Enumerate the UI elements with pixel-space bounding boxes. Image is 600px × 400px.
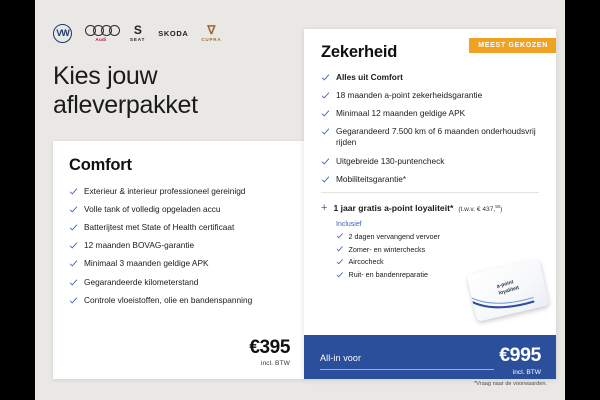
check-icon	[69, 296, 78, 305]
brand-logo-strip: VW Audi S SEAT SKODA ∇ CUPRA	[53, 22, 221, 44]
list-item-label: Alles uit Comfort	[336, 72, 403, 83]
list-item: Alles uit Comfort	[321, 72, 540, 83]
list-item: Controle vloeistoffen, olie en bandenspa…	[69, 295, 291, 306]
check-icon	[321, 73, 330, 82]
check-icon	[321, 175, 330, 184]
loyalty-value-prefix: (t.w.v. € 437,	[458, 206, 495, 213]
list-item: Exterieur & interieur professioneel gere…	[69, 186, 291, 197]
list-item-label: Controle vloeistoffen, olie en bandenspa…	[84, 295, 252, 306]
zekerheid-package-card[interactable]: MEEST GEKOZEN Zekerheid Alles uit Comfor…	[304, 29, 556, 379]
list-item-label: Volle tank of volledig opgeladen accu	[84, 204, 221, 215]
comfort-package-card[interactable]: Comfort Exterieur & interieur profession…	[53, 141, 305, 379]
list-item-label: Exterieur & interieur professioneel gere…	[84, 186, 245, 197]
list-item: Zomer- en winterchecks	[336, 245, 539, 254]
check-icon	[321, 91, 330, 100]
zekerheid-price: €995	[499, 346, 541, 366]
vw-roundel-icon: VW	[53, 24, 72, 43]
seat-glyph-icon: S	[134, 24, 142, 36]
includes-label: Inclusief	[336, 221, 539, 228]
comfort-price: €395	[249, 338, 290, 357]
loyalty-value-suffix: )	[500, 206, 502, 213]
list-item: Mobiliteitsgarantie*	[321, 174, 540, 185]
list-item: Uitgebreide 130-puntencheck	[321, 156, 540, 167]
check-icon	[336, 232, 344, 240]
list-item-label: Minimaal 3 maanden geldige APK	[84, 258, 209, 269]
comfort-price-note: incl. BTW	[249, 360, 290, 367]
comfort-feature-list: Exterieur & interieur professioneel gere…	[69, 186, 291, 306]
check-icon	[321, 127, 330, 136]
list-item: Gegarandeerd 7.500 km of 6 maanden onder…	[321, 126, 540, 148]
zekerheid-feature-list: Alles uit Comfort 18 maanden a-point zek…	[321, 72, 540, 185]
seat-logo-icon: S SEAT	[130, 24, 145, 42]
list-item-label: Mobiliteitsgarantie*	[336, 174, 406, 185]
plus-icon: +	[321, 203, 327, 214]
status-badge: MEEST GEKOZEN	[469, 38, 556, 53]
list-item: 18 maanden a-point zekerheidsgarantie	[321, 90, 540, 101]
list-item: 2 dagen vervangend vervoer	[336, 232, 539, 241]
list-item-label: 12 maanden BOVAG-garantie	[84, 240, 194, 251]
list-item-label: Gegarandeerd 7.500 km of 6 maanden onder…	[336, 126, 540, 148]
check-icon	[69, 278, 78, 287]
check-icon	[336, 271, 344, 279]
seat-wordmark: SEAT	[130, 37, 145, 42]
check-icon	[321, 157, 330, 166]
list-item-label: Gegarandeerde kilometerstand	[84, 277, 198, 288]
loyalty-title: 1 jaar gratis a-point loyaliteit*	[333, 203, 453, 213]
list-item: Gegarandeerde kilometerstand	[69, 277, 291, 288]
loyalty-header: + 1 jaar gratis a-point loyaliteit* (t.w…	[321, 203, 539, 214]
allin-label: All-in voor	[320, 346, 361, 363]
skoda-logo-icon: SKODA	[158, 29, 188, 38]
cupra-glyph-icon: ∇	[207, 24, 215, 36]
cupra-logo-icon: ∇ CUPRA	[201, 24, 221, 42]
comfort-card-title: Comfort	[69, 156, 305, 175]
list-item: Volle tank of volledig opgeladen accu	[69, 204, 291, 215]
divider	[321, 192, 539, 193]
allin-row: All-in voor €995 incl. BTW	[320, 346, 541, 376]
check-icon	[69, 205, 78, 214]
volkswagen-logo-icon: VW	[53, 24, 72, 43]
check-icon	[69, 187, 78, 196]
allin-price-bar: All-in voor €995 incl. BTW	[304, 335, 556, 379]
list-item-label: Zomer- en winterchecks	[349, 245, 426, 254]
cupra-wordmark: CUPRA	[201, 37, 221, 42]
list-item: 12 maanden BOVAG-garantie	[69, 240, 291, 251]
list-item-label: Minimaal 12 maanden geldige APK	[336, 108, 465, 119]
list-item-label: Uitgebreide 130-puntencheck	[336, 156, 444, 167]
audi-logo-icon: Audi	[85, 25, 117, 42]
screenshot-stage: VW Audi S SEAT SKODA ∇ CUPRA Kies jouw a…	[0, 0, 600, 400]
check-icon	[321, 109, 330, 118]
check-icon	[336, 245, 344, 253]
skoda-wordmark: SKODA	[158, 29, 188, 38]
footnote: *Vraag naar de voorwaarden.	[474, 381, 547, 387]
list-item: Minimaal 12 maanden geldige APK	[321, 108, 540, 119]
check-icon	[69, 259, 78, 268]
page-title: Kies jouw afleverpakket	[53, 62, 303, 120]
loyalty-section: + 1 jaar gratis a-point loyaliteit* (t.w…	[321, 203, 539, 280]
zekerheid-price-note: incl. BTW	[499, 369, 541, 376]
list-item-label: Aircocheck	[349, 257, 384, 266]
allin-underline	[320, 369, 494, 370]
list-item-label: 2 dagen vervangend vervoer	[349, 232, 441, 241]
list-item-label: 18 maanden a-point zekerheidsgarantie	[336, 90, 482, 101]
allin-price-block: €995 incl. BTW	[499, 346, 541, 376]
list-item-label: Ruit- en bandenreparatie	[349, 270, 429, 279]
loyalty-value: (t.w.v. € 437,50)	[458, 204, 502, 213]
list-item: Batterijtest met State of Health certifi…	[69, 222, 291, 233]
promo-canvas: VW Audi S SEAT SKODA ∇ CUPRA Kies jouw a…	[35, 0, 565, 400]
check-icon	[69, 223, 78, 232]
audi-wordmark: Audi	[95, 37, 106, 42]
comfort-price-block: €395 incl. BTW	[249, 338, 290, 367]
check-icon	[69, 241, 78, 250]
check-icon	[336, 258, 344, 266]
list-item: Minimaal 3 maanden geldige APK	[69, 258, 291, 269]
audi-rings-icon	[85, 25, 117, 36]
list-item-label: Batterijtest met State of Health certifi…	[84, 222, 234, 233]
